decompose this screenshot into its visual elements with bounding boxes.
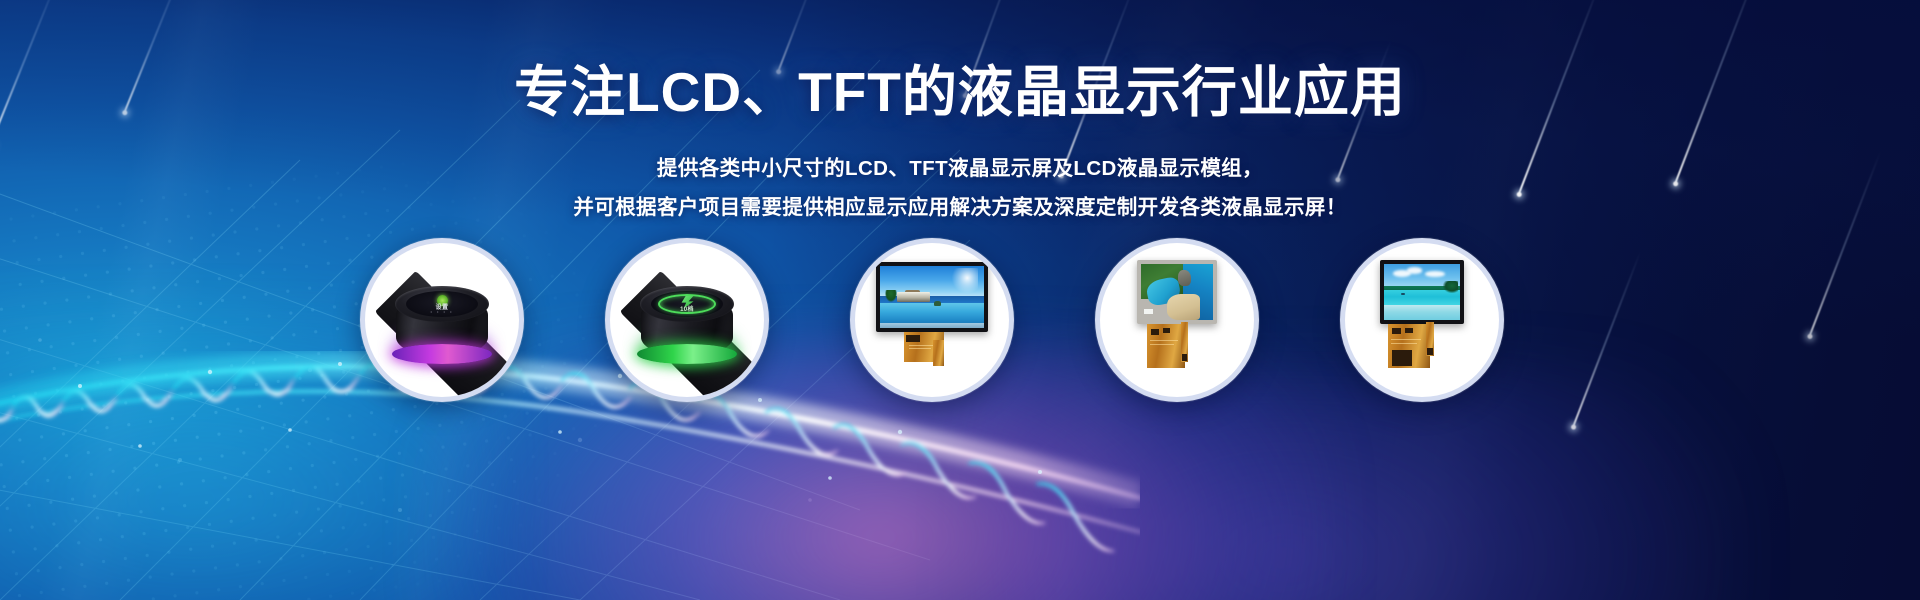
fpc-trace (1150, 344, 1174, 345)
tft-panel-coast-image (1100, 243, 1254, 397)
product-circle-1[interactable]: 设置 • • • • (360, 238, 524, 402)
fpc-ic (1405, 328, 1413, 333)
scene-shallow (1384, 305, 1460, 320)
product-circle-2[interactable]: 10档 (605, 238, 769, 402)
hero-banner: 专注LCD、TFT的液晶显示行业应用 提供各类中小尺寸的LCD、TFT液晶显示屏… (0, 0, 1920, 600)
tft-panel-lagoon-image (1345, 243, 1499, 397)
fpc-trace (909, 345, 935, 346)
fpc-tail (933, 340, 944, 366)
product-circle-5[interactable] (1340, 238, 1504, 402)
panel-bezel (1137, 260, 1217, 324)
fpc-connector (1427, 348, 1433, 355)
scene-cloud (1407, 267, 1422, 273)
panel-bezel (876, 262, 988, 332)
fpc-trace (909, 348, 931, 349)
subtitle-line-1: 提供各类中小尺寸的LCD、TFT液晶显示屏及LCD液晶显示模组， (0, 149, 1920, 189)
scene-palms (885, 290, 896, 302)
scene-rock (934, 301, 941, 306)
panel-assembly (1137, 260, 1217, 372)
scene-sun (951, 268, 978, 293)
panel-screen (1384, 264, 1460, 320)
puck-screen-label: 10档 (651, 304, 723, 313)
subtitle-line-2: 并可根据客户项目需要提供相应显示应用解决方案及深度定制开发各类液晶显示屏！ (0, 188, 1920, 228)
scene-villa (897, 292, 930, 302)
panel-fpc-area (876, 332, 988, 366)
banner-subtitle: 提供各类中小尺寸的LCD、TFT液晶显示屏及LCD液晶显示模组， 并可根据客户项… (0, 149, 1920, 229)
banner-copy: 专注LCD、TFT的液晶显示行业应用 提供各类中小尺寸的LCD、TFT液晶显示屏… (0, 62, 1920, 228)
panel-screen (1141, 264, 1213, 320)
puck-display: 设置 • • • • (406, 291, 478, 317)
page-title: 专注LCD、TFT的液晶显示行业应用 (0, 62, 1920, 123)
scene-deck (880, 323, 984, 328)
panel-screen (880, 266, 984, 328)
scene-palms (1443, 281, 1458, 293)
fpc-shield (1392, 350, 1412, 366)
scene-building (1144, 309, 1153, 314)
scene-cliff (1178, 270, 1191, 287)
panel-fpc-area (1380, 324, 1464, 372)
product-circle-3[interactable] (850, 238, 1014, 402)
puck-screen-dots: • • • • (406, 309, 478, 314)
fpc-ic (1392, 328, 1401, 334)
scene-boat (1401, 293, 1406, 295)
product-showcase: 设置 • • • • 10档 (0, 238, 1920, 408)
smart-puck-purple-image: 设置 • • • • (365, 243, 519, 397)
fpc-trace (1150, 340, 1178, 341)
fpc-ic (1163, 328, 1170, 333)
tft-panel-wide-image (855, 243, 1009, 397)
panel-assembly (1380, 260, 1464, 372)
smart-puck-green-image: 10档 (610, 243, 764, 397)
product-circle-4[interactable] (1095, 238, 1259, 402)
fpc-ic (1151, 329, 1159, 335)
puck-display: 10档 (651, 291, 723, 317)
panel-bezel (1380, 260, 1464, 324)
panel-fpc-area (1137, 324, 1217, 372)
fpc-trace (1391, 339, 1421, 340)
fpc-trace (1391, 343, 1417, 344)
scene-beach (1167, 294, 1200, 320)
fpc-connector (1182, 354, 1187, 361)
fpc-ic (906, 335, 920, 342)
panel-assembly (876, 262, 988, 366)
